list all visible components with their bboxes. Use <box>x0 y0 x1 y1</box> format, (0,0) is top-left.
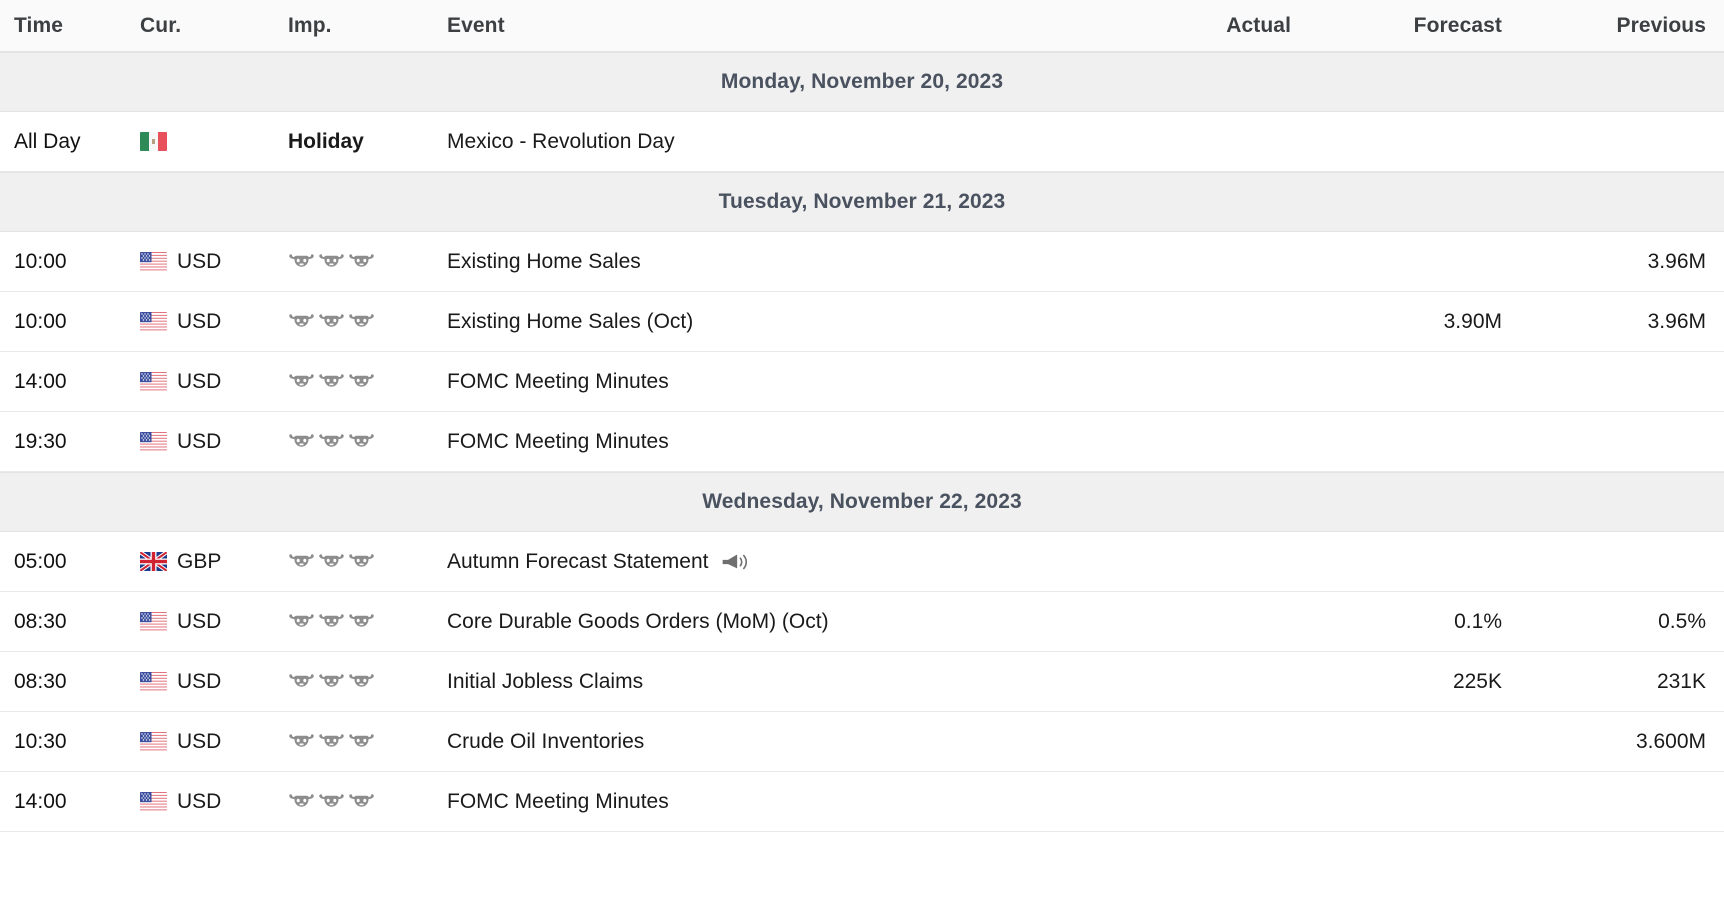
speaker-icon[interactable] <box>720 550 750 574</box>
date-separator-label: Monday, November 20, 2023 <box>721 70 1003 94</box>
bull-impact-icon <box>288 671 315 693</box>
table-row[interactable]: 10:30USDCrude Oil Inventories3.600M <box>0 712 1724 772</box>
date-separator-label: Tuesday, November 21, 2023 <box>719 190 1006 214</box>
cell-currency: USD <box>128 730 288 754</box>
cell-event[interactable]: FOMC Meeting Minutes <box>443 790 1076 814</box>
cell-time: All Day <box>0 130 128 154</box>
currency-code-label: USD <box>177 430 221 454</box>
bull-impact-icon <box>318 731 345 753</box>
table-row[interactable]: 14:00USDFOMC Meeting Minutes <box>0 352 1724 412</box>
cell-event[interactable]: FOMC Meeting Minutes <box>443 430 1076 454</box>
event-title: Initial Jobless Claims <box>447 670 643 694</box>
cell-impact <box>288 431 443 453</box>
bull-impact-icon <box>318 791 345 813</box>
table-row[interactable]: 08:30USDInitial Jobless Claims225K231K <box>0 652 1724 712</box>
cell-time: 08:30 <box>0 670 128 694</box>
currency-code-label: USD <box>177 670 221 694</box>
bull-impact-icon <box>288 431 315 453</box>
cell-time: 08:30 <box>0 610 128 634</box>
bull-impact-icon <box>348 671 375 693</box>
column-header-time[interactable]: Time <box>0 14 128 38</box>
table-row[interactable]: 05:00GBPAutumn Forecast Statement <box>0 532 1724 592</box>
cell-event[interactable]: Existing Home Sales (Oct) <box>443 310 1076 334</box>
bull-impact-icon <box>288 551 315 573</box>
cell-time: 10:00 <box>0 250 128 274</box>
table-row[interactable]: 19:30USDFOMC Meeting Minutes <box>0 412 1724 472</box>
bull-impact-icon <box>318 251 345 273</box>
usa-flag-icon <box>140 612 167 631</box>
bull-impact-icon <box>348 431 375 453</box>
cell-impact <box>288 731 443 753</box>
column-header-previous[interactable]: Previous <box>1506 14 1724 38</box>
cell-time: 10:00 <box>0 310 128 334</box>
event-title: Existing Home Sales (Oct) <box>447 310 693 334</box>
currency-code-label: USD <box>177 250 221 274</box>
cell-time: 10:30 <box>0 730 128 754</box>
bull-impact-icon <box>348 251 375 273</box>
cell-previous: 3.96M <box>1506 250 1724 274</box>
bull-impact-icon <box>318 431 345 453</box>
usa-flag-icon <box>140 672 167 691</box>
bull-impact-icon <box>288 731 315 753</box>
event-title: FOMC Meeting Minutes <box>447 370 669 394</box>
cell-currency: USD <box>128 250 288 274</box>
table-header-row: Time Cur. Imp. Event Actual Forecast Pre… <box>0 0 1724 52</box>
bull-impact-icon <box>288 311 315 333</box>
cell-forecast: 3.90M <box>1291 310 1506 334</box>
cell-forecast: 225K <box>1291 670 1506 694</box>
currency-code-label: USD <box>177 730 221 754</box>
cell-impact <box>288 311 443 333</box>
bull-impact-icon <box>348 371 375 393</box>
column-header-actual[interactable]: Actual <box>1076 14 1291 38</box>
column-header-impact[interactable]: Imp. <box>288 14 443 38</box>
calendar-body: Monday, November 20, 2023All DayHolidayM… <box>0 52 1724 832</box>
bull-impact-icon <box>318 551 345 573</box>
currency-code-label: USD <box>177 610 221 634</box>
bull-impact-icon <box>318 311 345 333</box>
date-separator-label: Wednesday, November 22, 2023 <box>702 490 1022 514</box>
cell-previous: 3.96M <box>1506 310 1724 334</box>
currency-code-label: USD <box>177 790 221 814</box>
bull-impact-icon <box>348 731 375 753</box>
cell-previous: 231K <box>1506 670 1724 694</box>
table-row[interactable]: 10:00USDExisting Home Sales (Oct)3.90M3.… <box>0 292 1724 352</box>
bull-impact-icon <box>288 251 315 273</box>
bull-impact-icon <box>288 611 315 633</box>
table-row[interactable]: 10:00USDExisting Home Sales3.96M <box>0 232 1724 292</box>
event-title: FOMC Meeting Minutes <box>447 430 669 454</box>
cell-event[interactable]: FOMC Meeting Minutes <box>443 370 1076 394</box>
bull-impact-icon <box>318 671 345 693</box>
event-title: Autumn Forecast Statement <box>447 550 708 574</box>
event-title: FOMC Meeting Minutes <box>447 790 669 814</box>
cell-impact <box>288 611 443 633</box>
bull-impact-icon <box>348 311 375 333</box>
cell-time: 19:30 <box>0 430 128 454</box>
bull-impact-icon <box>288 371 315 393</box>
table-row[interactable]: All DayHolidayMexico - Revolution Day <box>0 112 1724 172</box>
cell-event[interactable]: Core Durable Goods Orders (MoM) (Oct) <box>443 610 1076 634</box>
usa-flag-icon <box>140 432 167 451</box>
usa-flag-icon <box>140 372 167 391</box>
cell-event[interactable]: Autumn Forecast Statement <box>443 550 1076 574</box>
cell-currency: USD <box>128 310 288 334</box>
cell-time: 14:00 <box>0 790 128 814</box>
bull-impact-icon <box>318 371 345 393</box>
economic-calendar-table: Time Cur. Imp. Event Actual Forecast Pre… <box>0 0 1724 832</box>
event-title: Core Durable Goods Orders (MoM) (Oct) <box>447 610 829 634</box>
usa-flag-icon <box>140 792 167 811</box>
column-header-forecast[interactable]: Forecast <box>1291 14 1506 38</box>
cell-impact: Holiday <box>288 130 443 154</box>
cell-currency: USD <box>128 430 288 454</box>
cell-event[interactable]: Mexico - Revolution Day <box>443 130 1076 154</box>
usa-flag-icon <box>140 252 167 271</box>
bull-impact-icon <box>348 791 375 813</box>
cell-currency <box>128 132 288 151</box>
cell-impact <box>288 671 443 693</box>
date-separator-row: Monday, November 20, 2023 <box>0 52 1724 112</box>
cell-impact <box>288 371 443 393</box>
mexico-flag-icon <box>140 132 167 151</box>
column-header-currency[interactable]: Cur. <box>128 14 288 38</box>
speaker-icon-wrapper[interactable] <box>720 550 750 574</box>
bull-impact-icon <box>348 611 375 633</box>
cell-event[interactable]: Existing Home Sales <box>443 250 1076 274</box>
cell-impact <box>288 551 443 573</box>
holiday-label: Holiday <box>288 130 364 154</box>
table-row[interactable]: 14:00USDFOMC Meeting Minutes <box>0 772 1724 832</box>
bull-impact-icon <box>288 791 315 813</box>
cell-time: 14:00 <box>0 370 128 394</box>
bull-impact-icon <box>318 611 345 633</box>
cell-currency: USD <box>128 670 288 694</box>
cell-impact <box>288 251 443 273</box>
currency-code-label: USD <box>177 370 221 394</box>
cell-event[interactable]: Crude Oil Inventories <box>443 730 1076 754</box>
cell-currency: USD <box>128 610 288 634</box>
event-title: Existing Home Sales <box>447 250 641 274</box>
currency-code-label: GBP <box>177 550 221 574</box>
uk-flag-icon <box>140 552 167 571</box>
cell-currency: USD <box>128 370 288 394</box>
usa-flag-icon <box>140 312 167 331</box>
usa-flag-icon <box>140 732 167 751</box>
cell-impact <box>288 791 443 813</box>
table-row[interactable]: 08:30USDCore Durable Goods Orders (MoM) … <box>0 592 1724 652</box>
date-separator-row: Tuesday, November 21, 2023 <box>0 172 1724 232</box>
cell-currency: USD <box>128 790 288 814</box>
cell-currency: GBP <box>128 550 288 574</box>
cell-forecast: 0.1% <box>1291 610 1506 634</box>
event-title: Mexico - Revolution Day <box>447 130 675 154</box>
column-header-event[interactable]: Event <box>443 14 1076 38</box>
cell-previous: 3.600M <box>1506 730 1724 754</box>
cell-previous: 0.5% <box>1506 610 1724 634</box>
event-title: Crude Oil Inventories <box>447 730 644 754</box>
cell-event[interactable]: Initial Jobless Claims <box>443 670 1076 694</box>
bull-impact-icon <box>348 551 375 573</box>
date-separator-row: Wednesday, November 22, 2023 <box>0 472 1724 532</box>
currency-code-label: USD <box>177 310 221 334</box>
cell-time: 05:00 <box>0 550 128 574</box>
